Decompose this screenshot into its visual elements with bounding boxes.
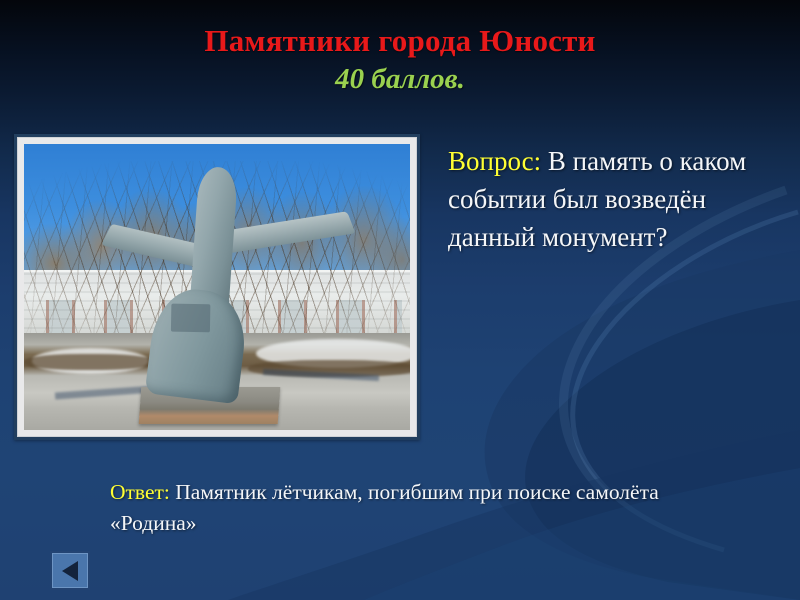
back-button[interactable] xyxy=(52,553,88,588)
monument-photo-frame xyxy=(14,134,420,440)
question-block: Вопрос: В память о каком событии был воз… xyxy=(448,142,788,256)
points-subtitle: 40 баллов. xyxy=(0,61,800,97)
question-label: Вопрос: xyxy=(448,146,541,176)
answer-text: Памятник лётчикам, погибшим при поиске с… xyxy=(110,480,659,535)
triangle-left-icon xyxy=(62,561,78,581)
photo-dirt-patch xyxy=(24,354,155,370)
monument-photo xyxy=(24,144,410,430)
slide-canvas: Памятники города Юности 40 баллов. xyxy=(0,0,800,600)
page-title: Памятники города Юности xyxy=(0,22,800,60)
answer-label: Ответ: xyxy=(110,480,170,504)
slide-header: Памятники города Юности 40 баллов. xyxy=(0,22,800,97)
photo-monument-plaque xyxy=(171,304,210,333)
answer-block: Ответ: Памятник лётчикам, погибшим при п… xyxy=(110,477,710,539)
photo-mat-border xyxy=(17,137,417,437)
